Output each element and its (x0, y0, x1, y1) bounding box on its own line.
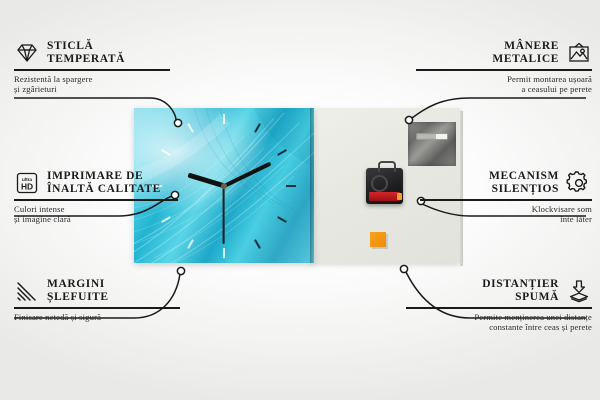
svg-text:HD: HD (21, 181, 33, 191)
callout-title-line2: ȘLEFUITE (47, 291, 109, 303)
metal-hanger-plate (408, 122, 456, 166)
marker-foam (400, 265, 407, 272)
callout-sub-line1: Rezistentă la spargere (14, 74, 93, 84)
callout-title: MARGINI ȘLEFUITE (47, 278, 109, 303)
center-pin (221, 183, 227, 189)
infographic-stage: STICLĂ TEMPERATĂ Rezistentă la spargere … (0, 0, 600, 400)
callout-silent-mechanism: MECANISM SILENȚIOS Klockvisare som inte … (420, 170, 592, 224)
marker-edges (177, 267, 184, 274)
callout-subtitle: Finisare netedă și sigură (14, 312, 180, 322)
diamond-icon (14, 41, 40, 65)
callout-title-line2: SILENȚIOS (492, 183, 559, 195)
tick-12 (223, 114, 225, 124)
callout-title-line2: ÎNALTĂ CALITATE (47, 183, 161, 195)
callout-sub-line2: constante între ceas și perete (489, 322, 592, 332)
callout-subtitle: Permite menținerea unei distanțe constan… (406, 312, 592, 333)
callout-header: MARGINI ȘLEFUITE (14, 278, 180, 303)
callout-title: IMPRIMARE DE ÎNALTĂ CALITATE (47, 170, 161, 195)
callout-title-line2: TEMPERATĂ (47, 53, 125, 65)
gear-icon (566, 171, 592, 195)
callout-title-line1: MÂNERE (504, 40, 559, 52)
callout-header: DISTANȚIER SPUMĂ (406, 278, 592, 303)
callout-subtitle: Klockvisare som inte låter (420, 204, 592, 225)
second-hand (223, 186, 225, 244)
callout-sub-line2: și imagine clară (14, 214, 71, 224)
callout-header: ultra HD IMPRIMARE DE ÎNALTĂ CALITATE (14, 170, 178, 195)
callout-divider (420, 199, 592, 201)
clock-edge-shadow (310, 108, 314, 263)
quartz-mechanism (366, 168, 403, 204)
callout-title-line1: DISTANȚIER (482, 278, 559, 290)
callout-sub-line2: și zgârieturi (14, 84, 57, 94)
callout-title-line1: IMPRIMARE DE (47, 170, 143, 182)
callout-metal-handles: MÂNERE METALICE Permit montarea ușoară a… (416, 40, 592, 94)
callout-divider (14, 199, 178, 201)
callout-title-line1: STICLĂ (47, 40, 93, 52)
wall-mount-frame-icon (566, 41, 592, 65)
mechanism-dial (371, 175, 388, 192)
callout-sub-line1: Klockvisare som (532, 204, 592, 214)
callout-subtitle: Rezistentă la spargere și zgârieturi (14, 74, 170, 95)
callout-sub-line1: Permit montarea ușoară (507, 74, 592, 84)
callout-sub-line1: Finisare netedă și sigură (14, 312, 101, 322)
callout-header: MÂNERE METALICE (416, 40, 592, 65)
callout-title: DISTANȚIER SPUMĂ (482, 278, 559, 303)
callout-title-line2: SPUMĂ (515, 291, 559, 303)
callout-divider (416, 69, 592, 71)
hanger-hook (378, 161, 396, 172)
callout-subtitle: Culori intense și imagine clară (14, 204, 178, 225)
press-layers-icon (566, 279, 592, 303)
callout-sub-line2: a ceasului pe perete (521, 84, 592, 94)
polished-edge-icon (14, 279, 40, 303)
callout-header: MECANISM SILENȚIOS (420, 170, 592, 195)
callout-divider (14, 69, 170, 71)
callout-title-line2: METALICE (492, 53, 559, 65)
tick-3 (286, 185, 296, 187)
callout-title-line1: MARGINI (47, 278, 105, 290)
hanger-slot (416, 133, 448, 140)
callout-tempered-glass: STICLĂ TEMPERATĂ Rezistentă la spargere … (14, 40, 170, 94)
callout-sub-line2: inte låter (560, 214, 592, 224)
callout-header: STICLĂ TEMPERATĂ (14, 40, 170, 65)
tick-6 (223, 248, 225, 258)
ultra-hd-icon: ultra HD (14, 171, 40, 195)
foam-spacer-pad (370, 232, 386, 247)
callout-title: MECANISM SILENȚIOS (489, 170, 559, 195)
callout-title-line1: MECANISM (489, 170, 559, 182)
callout-sub-line1: Permite menținerea unei distanțe (474, 312, 592, 322)
callout-title: STICLĂ TEMPERATĂ (47, 40, 125, 65)
callout-sub-line1: Culori intense (14, 204, 65, 214)
callout-polished-edges: MARGINI ȘLEFUITE Finisare netedă și sigu… (14, 278, 180, 322)
callout-subtitle: Permit montarea ușoară a ceasului pe per… (416, 74, 592, 95)
callout-title: MÂNERE METALICE (492, 40, 559, 65)
callout-divider (14, 307, 180, 309)
callout-foam-spacer: DISTANȚIER SPUMĂ Permite menținerea unei… (406, 278, 592, 332)
aa-battery (369, 192, 400, 201)
callout-high-quality-print: ultra HD IMPRIMARE DE ÎNALTĂ CALITATE Cu… (14, 170, 178, 224)
product-image (134, 108, 460, 266)
callout-divider (406, 307, 592, 309)
